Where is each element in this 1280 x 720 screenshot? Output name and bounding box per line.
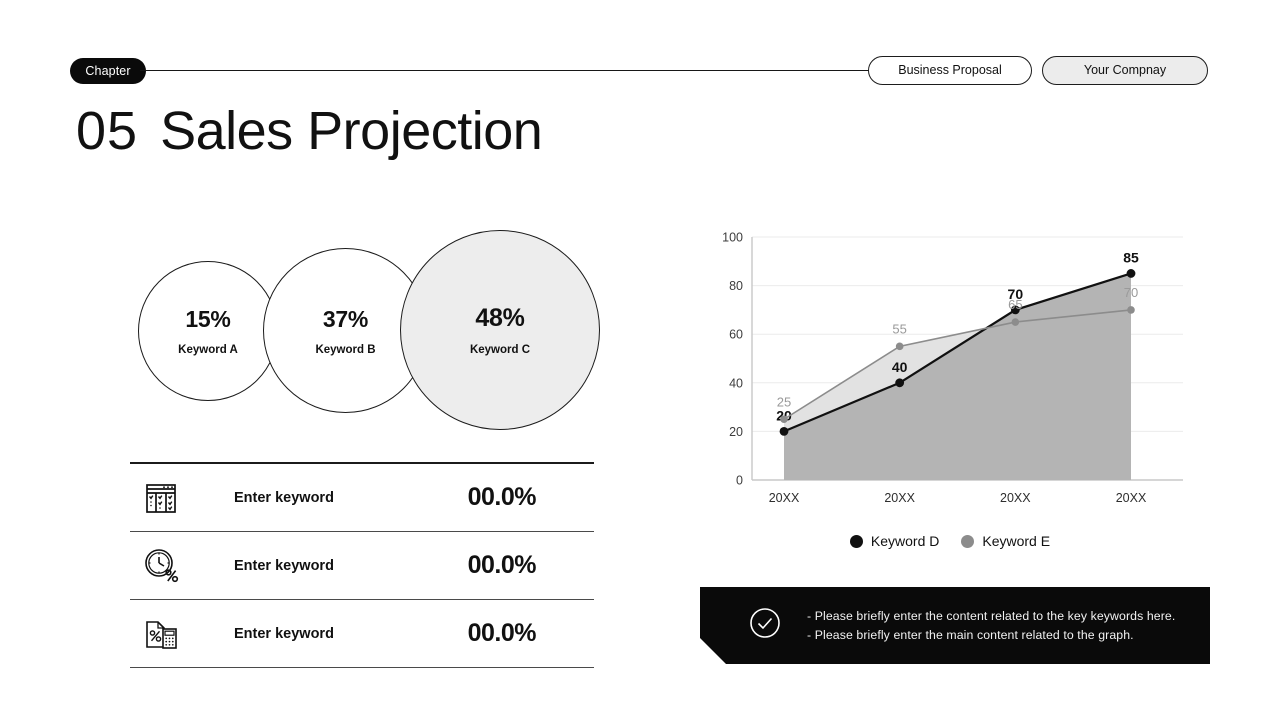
keyword-row-label: Enter keyword [234, 558, 334, 574]
y-axis-tick-label: 60 [729, 328, 743, 342]
keyword-row-label: Enter keyword [234, 490, 334, 506]
percentage-circles-group: 15% Keyword A 37% Keyword B 48% Keyword … [130, 230, 610, 430]
circle-c-keyword: Keyword C [470, 344, 530, 356]
y-axis-tick-label: 80 [729, 279, 743, 293]
keyword-row[interactable]: Enter keyword 00.0% [130, 600, 594, 667]
check-circle-icon [748, 606, 782, 645]
keyword-list: Enter keyword 00.0% Enter keyword 00.0% [130, 462, 594, 668]
keyword-row-value: 00.0% [468, 551, 536, 580]
x-axis-tick-label: 20XX [884, 491, 915, 505]
data-point-label: 85 [1123, 249, 1139, 265]
data-point-label: 70 [1124, 285, 1138, 300]
note-line: - Please briefly enter the content relat… [807, 607, 1175, 626]
data-point-label: 65 [1008, 297, 1022, 312]
percentage-circle-c[interactable]: 48% Keyword C [400, 230, 600, 430]
business-proposal-button[interactable]: Business Proposal [868, 56, 1032, 85]
keyword-row-divider [130, 667, 594, 668]
legend-item-keyword-d[interactable]: Keyword D [850, 533, 939, 549]
page-title-text: Sales Projection [160, 100, 542, 162]
legend-dot-keyword-d [850, 535, 863, 548]
data-point-label: 25 [777, 394, 791, 409]
clock-percent-icon [130, 545, 192, 587]
legend-dot-keyword-e [961, 535, 974, 548]
chart-legend: Keyword D Keyword E [700, 533, 1200, 549]
chart-svg: 02040608010020XX20XX20XX20XX204070852555… [700, 225, 1200, 525]
page-title-number: 05 [76, 100, 138, 162]
keyword-row-label: Enter keyword [234, 626, 334, 642]
keyword-row-value: 00.0% [468, 483, 536, 512]
y-axis-tick-label: 40 [729, 376, 743, 390]
circle-c-percent: 48% [475, 304, 524, 333]
legend-item-keyword-e[interactable]: Keyword E [961, 533, 1050, 549]
data-point-label: 55 [892, 321, 906, 336]
your-company-button[interactable]: Your Compnay [1042, 56, 1208, 85]
keyword-row[interactable]: Enter keyword 00.0% [130, 464, 594, 531]
note-line: - Please briefly enter the main content … [807, 626, 1175, 645]
page-title: 05 Sales Projection [76, 100, 542, 162]
y-axis-tick-label: 100 [722, 231, 743, 245]
checklist-window-icon [130, 478, 192, 518]
document-calculator-icon [130, 613, 192, 655]
keyword-row[interactable]: Enter keyword 00.0% [130, 532, 594, 599]
y-axis-tick-label: 20 [729, 425, 743, 439]
circle-b-percent: 37% [323, 306, 368, 333]
data-point-label: 40 [892, 359, 908, 375]
x-axis-tick-label: 20XX [1000, 491, 1031, 505]
header-divider-line [140, 70, 870, 71]
keyword-row-value: 00.0% [468, 619, 536, 648]
x-axis-tick-label: 20XX [769, 491, 800, 505]
sales-projection-chart: 02040608010020XX20XX20XX20XX204070852555… [700, 225, 1200, 525]
legend-label-keyword-d: Keyword D [871, 533, 939, 549]
note-text-block: - Please briefly enter the content relat… [807, 607, 1175, 645]
percentage-circle-a[interactable]: 15% Keyword A [138, 261, 278, 401]
chapter-badge: Chapter [70, 58, 146, 84]
x-axis-tick-label: 20XX [1116, 491, 1147, 505]
circle-b-keyword: Keyword B [315, 344, 375, 356]
circle-a-percent: 15% [185, 306, 230, 333]
circle-a-keyword: Keyword A [178, 344, 238, 356]
page-header: Chapter Business Proposal Your Compnay [0, 0, 1280, 100]
note-callout-box: - Please briefly enter the content relat… [700, 587, 1210, 664]
legend-label-keyword-e: Keyword E [982, 533, 1050, 549]
y-axis-tick-label: 0 [736, 474, 743, 488]
